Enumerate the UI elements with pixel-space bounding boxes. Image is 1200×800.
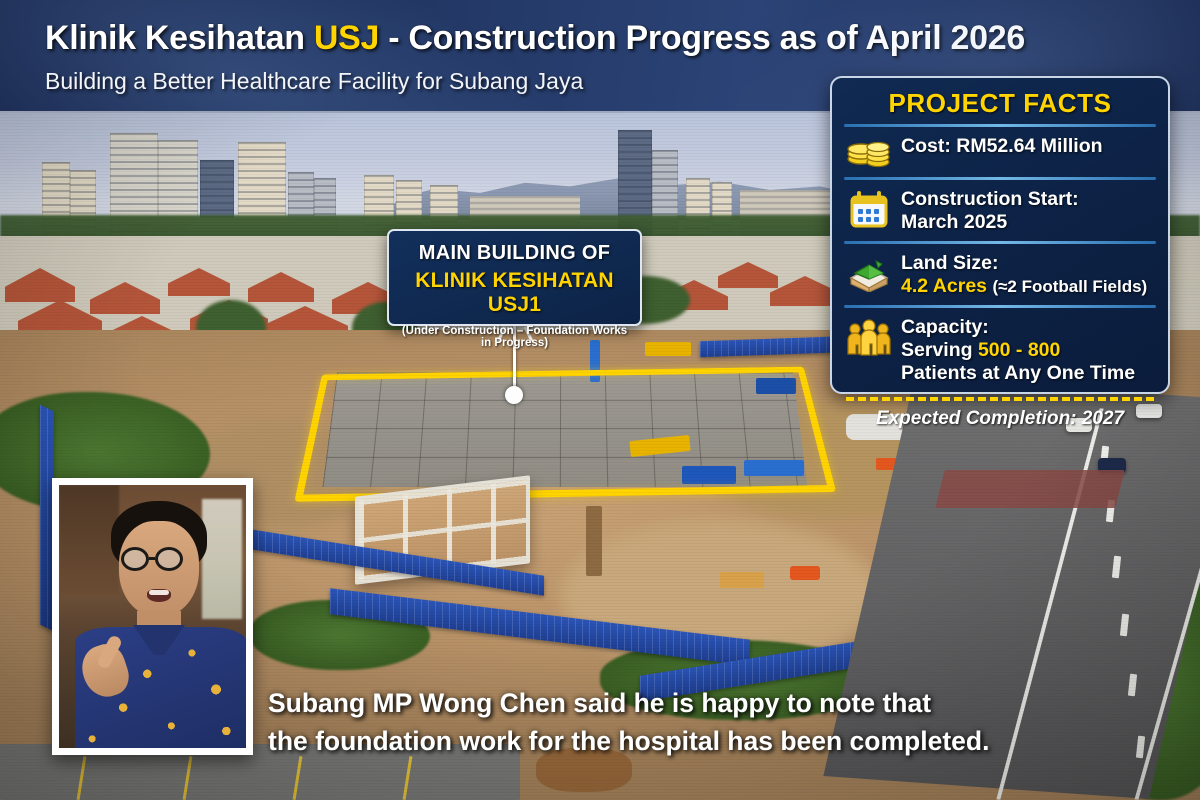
caption-line-1: Subang MP Wong Chen said he is happy to … [268,685,1068,723]
fact-row-construction-start: Construction Start: March 2025 [844,180,1156,241]
page-subtitle: Building a Better Healthcare Facility fo… [45,68,583,95]
construction-start-label: Construction Start: [901,188,1079,211]
portrait-glasses-right-lens [155,547,183,571]
callout-pin-dot [505,386,523,404]
people-icon [846,316,892,356]
construction-start-value: March 2025 [901,211,1079,234]
capacity-serving-row: Serving 500 - 800 [901,339,1135,362]
portrait-inset-frame [52,478,253,755]
title-text-post: - Construction Progress as of April 2026 [379,19,1025,57]
caption-line-2: the foundation work for the hospital has… [268,723,1068,761]
barrier-orange [790,566,820,580]
rebar-pile [586,506,602,576]
callout-line-2: KLINIK KESIHATAN USJ1 [397,269,632,317]
fact-row-land-size: Land Size: 4.2 Acres (≈2 Football Fields… [844,244,1156,305]
title-text-pre: Klinik Kesihatan [45,19,314,57]
capacity-value: 500 - 800 [978,339,1060,361]
fact-row-capacity: Capacity: Serving 500 - 800 Patients at … [844,308,1156,392]
page-title: Klinik Kesihatan USJ - Construction Prog… [45,19,1025,58]
capacity-serving-pre: Serving [901,339,978,361]
portrait-photo-wong-chen [59,485,246,748]
fact-text-construction-start: Construction Start: March 2025 [901,188,1079,233]
infographic-root: Klinik Kesihatan USJ - Construction Prog… [0,0,1200,800]
project-facts-panel: PROJECT FACTS Cost: RM52.64 Million [830,76,1170,394]
facts-panel-title: PROJECT FACTS [844,84,1156,124]
portrait-mouth [147,589,171,602]
land-icon [846,252,892,292]
coins-icon [846,135,892,169]
capacity-detail: Patients at Any One Time [901,362,1135,385]
portrait-glasses-bridge [149,557,155,560]
callout-line-3: (Under Construction – Foundation Works i… [397,325,632,349]
pipe-stack [720,572,764,588]
fact-text-land-size: Land Size: 4.2 Acres (≈2 Football Fields… [901,252,1147,297]
road-junction-red-pavement [935,470,1124,508]
land-size-note: (≈2 Football Fields) [992,277,1147,296]
main-building-callout: MAIN BUILDING OF KLINIK KESIHATAN USJ1 (… [387,229,642,326]
capacity-label: Capacity: [901,316,1135,339]
title-text-accent: USJ [314,19,379,57]
land-size-value-row: 4.2 Acres (≈2 Football Fields) [901,275,1147,298]
land-size-label: Land Size: [901,252,1147,275]
fact-text-capacity: Capacity: Serving 500 - 800 Patients at … [901,316,1135,384]
fact-text-cost: Cost: RM52.64 Million [901,135,1103,158]
excavator-yellow [645,342,691,356]
portrait-background-wood [59,485,119,595]
bottom-caption: Subang MP Wong Chen said he is happy to … [268,685,1068,760]
cost-line: Cost: RM52.64 Million [901,135,1103,158]
calendar-icon [846,188,892,228]
land-size-value: 4.2 Acres [901,275,987,297]
highlighted-main-building-zone [294,367,836,502]
portrait-background-window [202,499,242,619]
callout-line-1: MAIN BUILDING OF [397,242,632,265]
portrait-glasses-left-lens [121,547,149,571]
expected-completion: Expected Completion: 2027 [844,401,1156,430]
fact-row-cost: Cost: RM52.64 Million [844,127,1156,177]
